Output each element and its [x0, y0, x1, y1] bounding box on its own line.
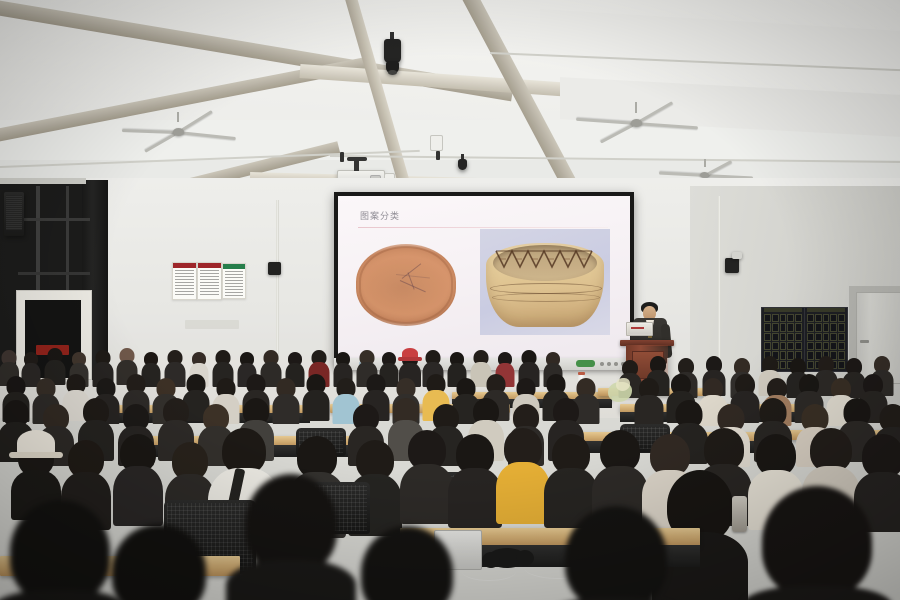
audience-member: [752, 434, 800, 526]
whiteboard-brand-logo: [576, 360, 595, 367]
pottery-basin-photo: [480, 229, 610, 335]
alcove-header-trim: [0, 178, 86, 184]
baseball-cap: [17, 430, 55, 456]
audience-member: [806, 428, 856, 522]
notice-poster: [222, 263, 246, 299]
baseball-cap: [402, 348, 418, 359]
painted-pottery-basin: [486, 243, 604, 327]
power-cable: [462, 562, 516, 581]
lecture-hall-photo: 图案分类: [0, 0, 900, 600]
ceiling-hanger: [340, 152, 344, 162]
ceiling-hanger: [436, 151, 440, 160]
desk-row-foreground: [0, 556, 240, 576]
audience-member: [304, 374, 328, 420]
door-handle[interactable]: [860, 340, 869, 343]
wall-speaker: [268, 262, 281, 275]
slide-title: 图案分类: [360, 209, 400, 222]
chair-back: [300, 482, 370, 534]
audience-member: [636, 378, 662, 424]
window-mullion: [66, 186, 69, 296]
projection-screen[interactable]: 图案分类: [338, 196, 630, 358]
podium-laptop[interactable]: [626, 322, 653, 336]
wall-conduit-pipe: [718, 196, 721, 368]
window-mullion: [18, 272, 90, 275]
slide-title-underline: [358, 227, 608, 228]
ceiling: [0, 0, 900, 196]
audience-member-white-cap: [14, 430, 58, 508]
audience-member: [274, 378, 298, 422]
audience-member: [500, 428, 546, 520]
left-wall-speaker: [4, 192, 24, 236]
audience-member: [596, 430, 644, 522]
window-mullion: [36, 186, 40, 296]
pottery-bowl-top-view: [356, 244, 456, 326]
projector-mount: [354, 160, 359, 171]
wall-plaque: [185, 320, 239, 329]
hair-clip: [732, 496, 747, 532]
window-mullion: [18, 218, 90, 221]
wall-conduit-pipe: [276, 200, 279, 360]
projector-mount: [347, 157, 367, 161]
audience-member: [858, 434, 900, 526]
audience-member: [404, 430, 450, 520]
audience-member: [116, 434, 160, 520]
audience-member: [64, 440, 108, 524]
notice-poster: [197, 262, 222, 300]
headphone-cable: [524, 556, 592, 579]
wall-speaker-mount: [732, 252, 742, 259]
audience-member: [452, 434, 498, 524]
wall-speaker: [725, 258, 739, 273]
audience-member: [548, 434, 594, 524]
wall-switch-plate[interactable]: [430, 135, 443, 151]
notice-poster: [172, 262, 197, 300]
pottery-zigzag-pattern: [494, 247, 596, 273]
